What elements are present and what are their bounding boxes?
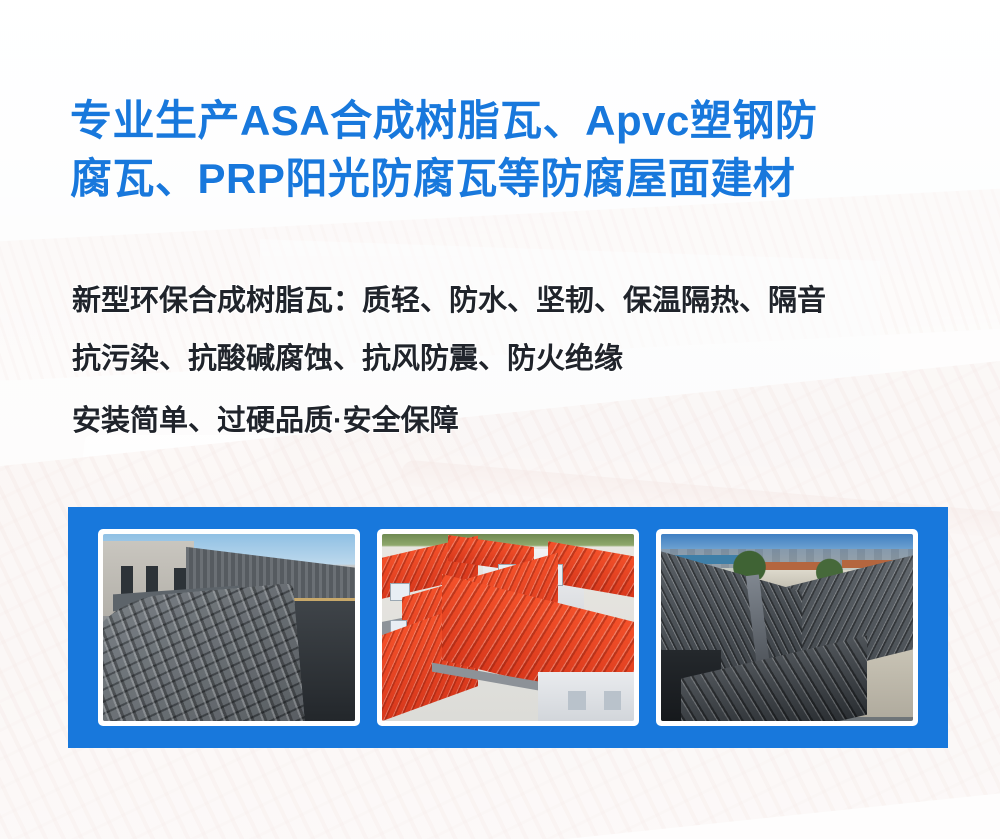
photo2-window (604, 691, 622, 710)
product-banner: 专业生产ASA合成树脂瓦、Apvc塑钢防 腐瓦、PRP阳光防腐瓦等防腐屋面建材 … (0, 0, 1000, 839)
headline-line-1: 专业生产ASA合成树脂瓦、Apvc塑钢防 (70, 92, 950, 150)
photo-red-orange-resin-tile-roofs-aerial (382, 534, 634, 721)
photo1-window (121, 566, 134, 596)
photo-gallery-panel (68, 507, 948, 748)
photo1-main-tile-surface (103, 583, 306, 721)
photo-dark-grey-tile-roof-village-view (661, 534, 913, 721)
subheadline-line-2: 抗污染、抗酸碱腐蚀、抗风防震、防火绝缘 (72, 330, 962, 388)
headline: 专业生产ASA合成树脂瓦、Apvc塑钢防 腐瓦、PRP阳光防腐瓦等防腐屋面建材 (70, 92, 950, 208)
photo2-window (568, 691, 586, 710)
subheadline-line-3: 安装简单、过硬品质·安全保障 (72, 392, 962, 450)
subheadline: 新型环保合成树脂瓦：质轻、防水、坚韧、保温隔热、隔音 抗污染、抗酸碱腐蚀、抗风防… (72, 272, 962, 450)
photo-dark-grey-resin-tile-roof-with-buildings (103, 534, 355, 721)
headline-line-2: 腐瓦、PRP阳光防腐瓦等防腐屋面建材 (70, 150, 950, 208)
subheadline-line-1: 新型环保合成树脂瓦：质轻、防水、坚韧、保温隔热、隔音 (72, 272, 962, 330)
photo-frame-1[interactable] (98, 529, 360, 726)
photo-frame-2[interactable] (377, 529, 639, 726)
photo-frame-3[interactable] (656, 529, 918, 726)
